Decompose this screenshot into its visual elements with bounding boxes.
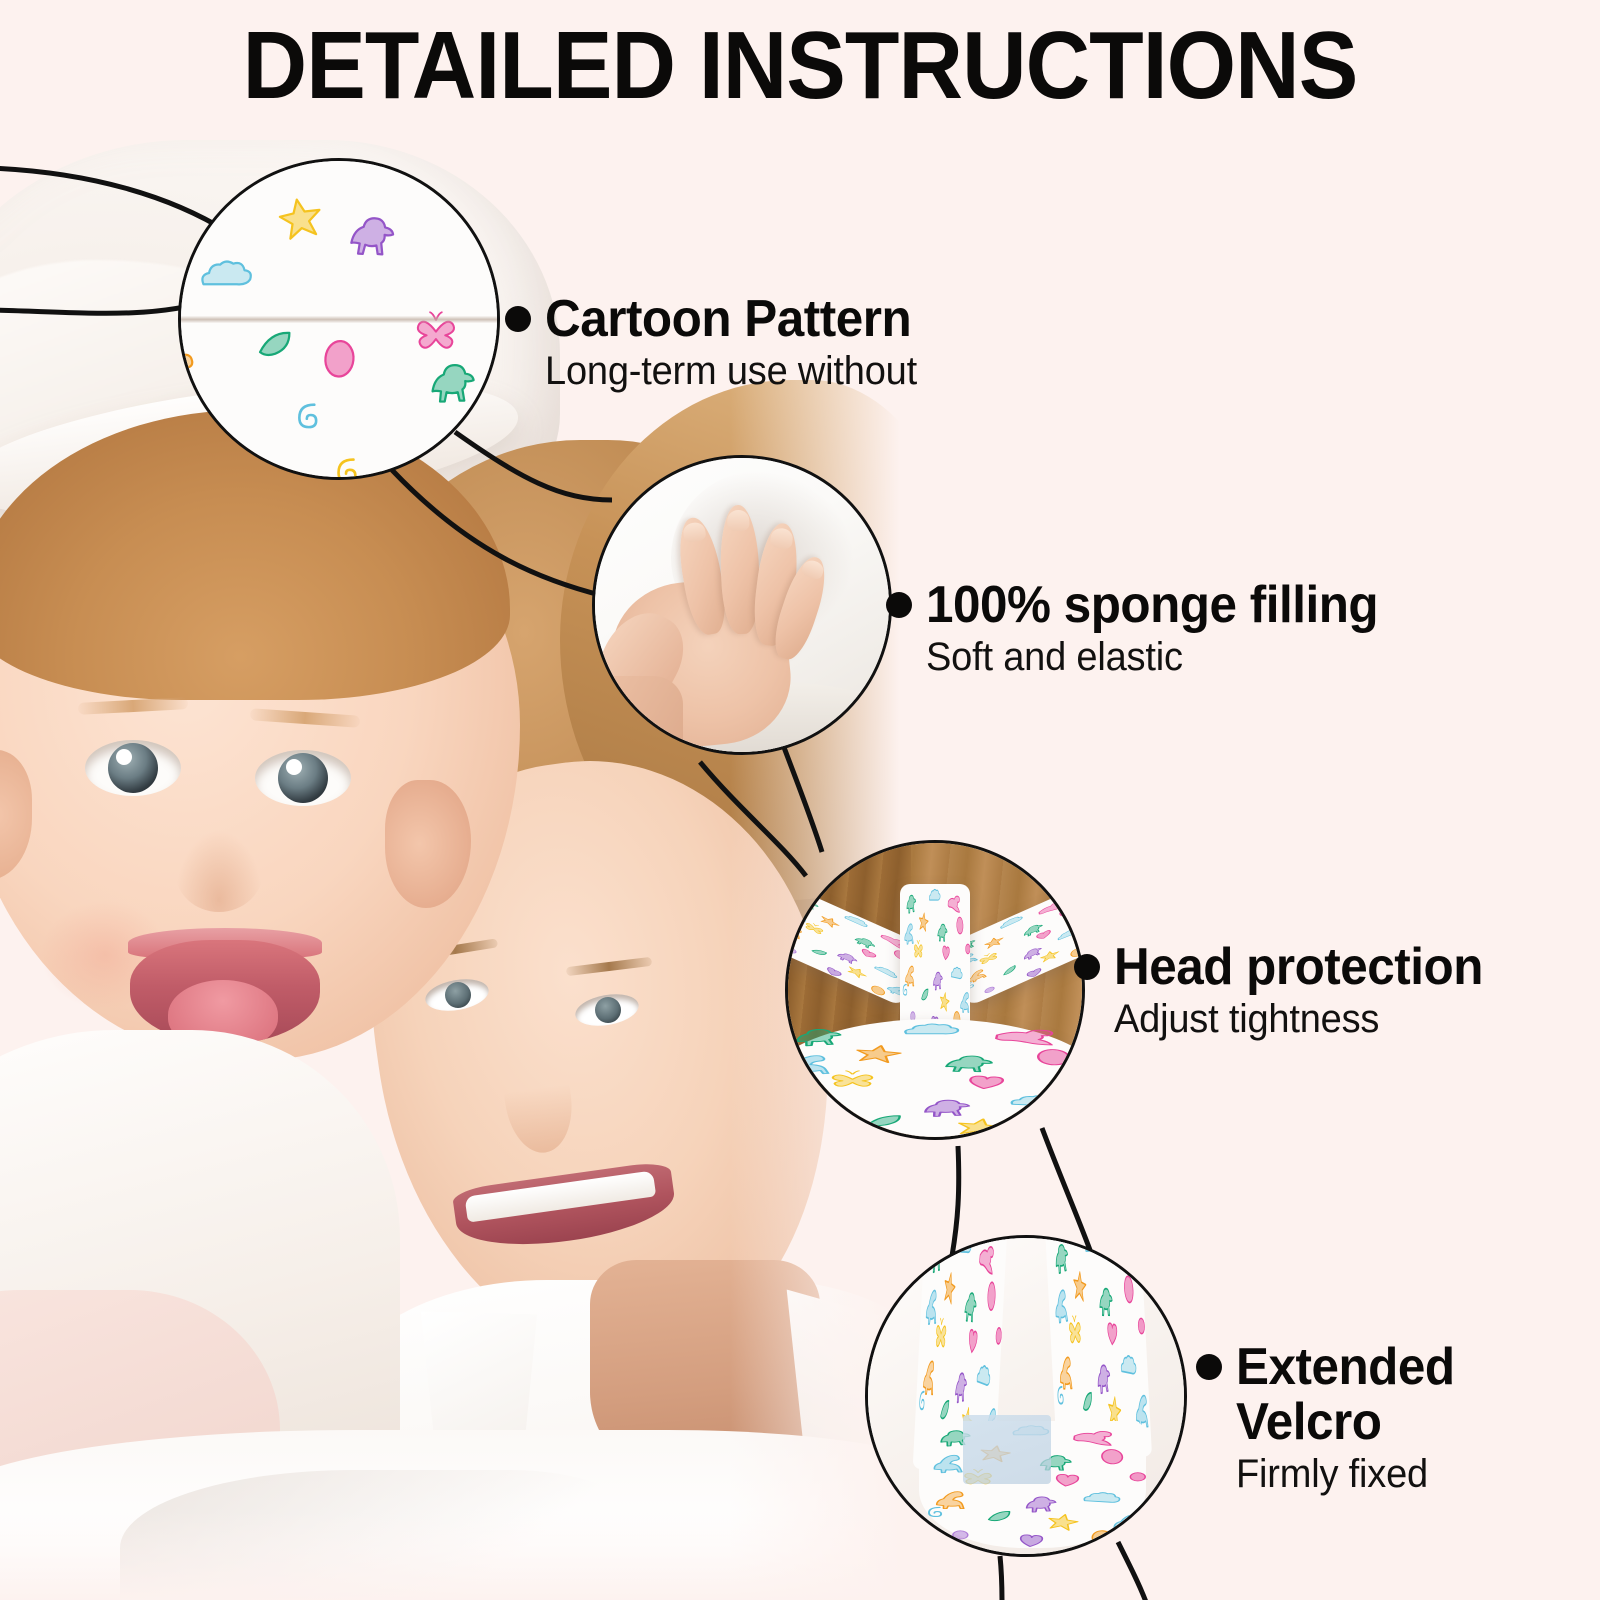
bullet-icon [1196,1354,1222,1380]
longneck-doodle [925,1291,936,1325]
heart-doodle [968,1076,1004,1090]
ptero-doodle [996,1029,1056,1046]
longneck-doodle [904,924,913,945]
star-doodle [846,964,869,979]
dot-doodle [965,944,970,954]
callout-sponge-filling [592,455,892,755]
star-doodle [278,196,324,240]
leaf-doodle [866,1116,904,1127]
longneck-doodle [785,1056,829,1075]
swirl-doodle [919,1392,924,1410]
longneck-doodle [936,1492,963,1509]
egg-doodle [956,917,963,935]
feature-subtitle: Firmly fixed [1236,1452,1455,1497]
longneck-doodle [1114,1515,1141,1532]
feature-sponge-filling: 100% sponge filling Soft and elastic [886,578,1402,680]
longneck-doodle [932,1455,961,1473]
dino-doodle [964,1292,977,1323]
leaf-doodle [1082,1393,1093,1412]
ptero-doodle [1111,1241,1127,1269]
ptero-doodle [978,1244,994,1275]
cloud-doodle [202,262,250,285]
feature-head-protection: Head protection Adjust tightness [1074,940,1502,1042]
butterfly-doodle [833,1071,872,1086]
callout-head-protection [785,840,1085,1140]
star-doodle [819,914,842,929]
egg-doodle [1123,1275,1134,1304]
feature-title: 100% sponge filling [926,578,1378,633]
butterfly-doodle [935,1319,946,1348]
dino-doodle [931,1242,942,1273]
swirl-doodle [903,985,907,996]
dino-doodle [924,1100,971,1117]
leaf-doodle [1001,965,1018,975]
cloud-doodle [875,964,899,978]
longneck-doodle [923,1361,934,1394]
dot-doodle [1081,1075,1085,1084]
cloud-doodle [929,890,940,901]
cloud-doodle [958,1235,972,1253]
dino-doodle [1100,1288,1113,1317]
cloud-doodle [1083,1492,1120,1503]
heart-doodle [1054,1474,1078,1487]
dino-doodle [433,365,474,401]
dot-doodle [1130,1473,1145,1481]
cloud-doodle [976,1364,990,1386]
heart-doodle [942,946,950,961]
ptero-doodle [1073,1430,1113,1445]
page-title: DETAILED INSTRUCTIONS [56,16,1544,117]
heart-doodle [860,948,877,959]
butterfly-doodle [1069,1316,1081,1343]
longneck-doodle [785,923,803,938]
cloud-doodle [951,966,962,979]
dino-doodle [1097,1364,1111,1394]
butterfly-doodle [978,950,997,964]
star-doodle [984,934,1002,949]
star-doodle [854,1045,904,1064]
star-doodle [939,991,950,1012]
egg-doodle [1091,1530,1114,1545]
swirl-doodle [1058,1387,1064,1404]
egg-doodle [1022,1136,1056,1140]
cloud-doodle [1012,1095,1067,1107]
feature-subtitle: Adjust tightness [1114,997,1483,1042]
butterfly-doodle [914,940,922,957]
dot-doodle [1138,1319,1145,1335]
feature-title: Cartoon Pattern [545,292,911,347]
swirl-doodle [299,405,316,427]
dot-doodle [1081,910,1085,918]
bullet-icon [505,306,531,332]
feature-title: Extended Velcro [1236,1340,1455,1450]
egg-doodle [1100,1449,1124,1465]
egg-doodle [1036,1049,1072,1066]
ptero-doodle [948,894,960,912]
star-doodle [1074,1270,1087,1302]
bullet-icon [1074,954,1100,980]
longneck-doodle [178,355,194,397]
dino-doodle [854,935,876,950]
longneck-doodle [789,905,808,920]
cloud-doodle [1121,1355,1136,1375]
cloud-doodle [906,1024,959,1034]
swirl-doodle [929,1508,941,1517]
leaf-doodle [921,989,929,1001]
longneck-doodle [1059,1358,1072,1390]
swirl-doodle [339,460,356,480]
dino-doodle [933,972,943,990]
longneck-doodle [1054,1290,1068,1324]
star-doodle [1040,948,1059,963]
feature-cartoon-pattern: Cartoon Pattern Long-term use without [505,292,937,394]
cloud-doodle [1057,926,1080,939]
leaf-doodle [812,947,826,957]
leaf-doodle [986,1511,1011,1521]
dino-doodle [1025,1497,1057,1513]
dino-doodle [1021,946,1043,961]
star-doodle [954,1118,1005,1137]
dot-doodle [995,1328,1001,1344]
egg-doodle [871,984,885,996]
dot-doodle [786,946,797,954]
dino-doodle [906,895,916,914]
dot-doodle [984,985,995,993]
dino-doodle [937,924,947,942]
longneck-doodle [960,993,968,1013]
callout-extended-velcro [865,1235,1187,1557]
dino-doodle [946,1056,993,1073]
feature-subtitle: Soft and elastic [926,635,1378,680]
leaf-doodle [940,1401,948,1420]
star-doodle [943,1270,956,1305]
bullet-icon [886,592,912,618]
heart-doodle [967,1329,977,1354]
dino-doodle [799,896,819,911]
feature-title: Head protection [1114,940,1483,995]
longneck-doodle [791,1095,832,1113]
dino-doodle [1055,1244,1070,1275]
dot-doodle [952,1531,967,1539]
dino-doodle [351,217,394,256]
ptero-doodle [203,158,259,172]
dino-doodle [838,950,858,965]
feature-subtitle: Long-term use without [545,349,917,394]
fabric-seam [181,316,497,323]
butterfly-doodle [805,920,824,934]
feature-extended-velcro: Extended Velcro Firmly fixed [1196,1340,1466,1497]
dino-doodle [795,1029,844,1046]
heart-doodle [1108,1323,1117,1346]
leaf-doodle [258,332,292,356]
heart-doodle [1019,1535,1043,1547]
callout-cartoon-pattern [178,158,500,480]
star-doodle [918,912,928,933]
dino-doodle [955,1373,967,1403]
longneck-doodle [1057,1119,1085,1137]
cloud-doodle [1085,1235,1101,1252]
longneck-doodle [905,966,913,986]
ptero-doodle [1038,899,1063,915]
egg-doodle [987,1281,995,1311]
star-doodle [1045,1513,1079,1531]
egg-doodle [324,340,356,378]
